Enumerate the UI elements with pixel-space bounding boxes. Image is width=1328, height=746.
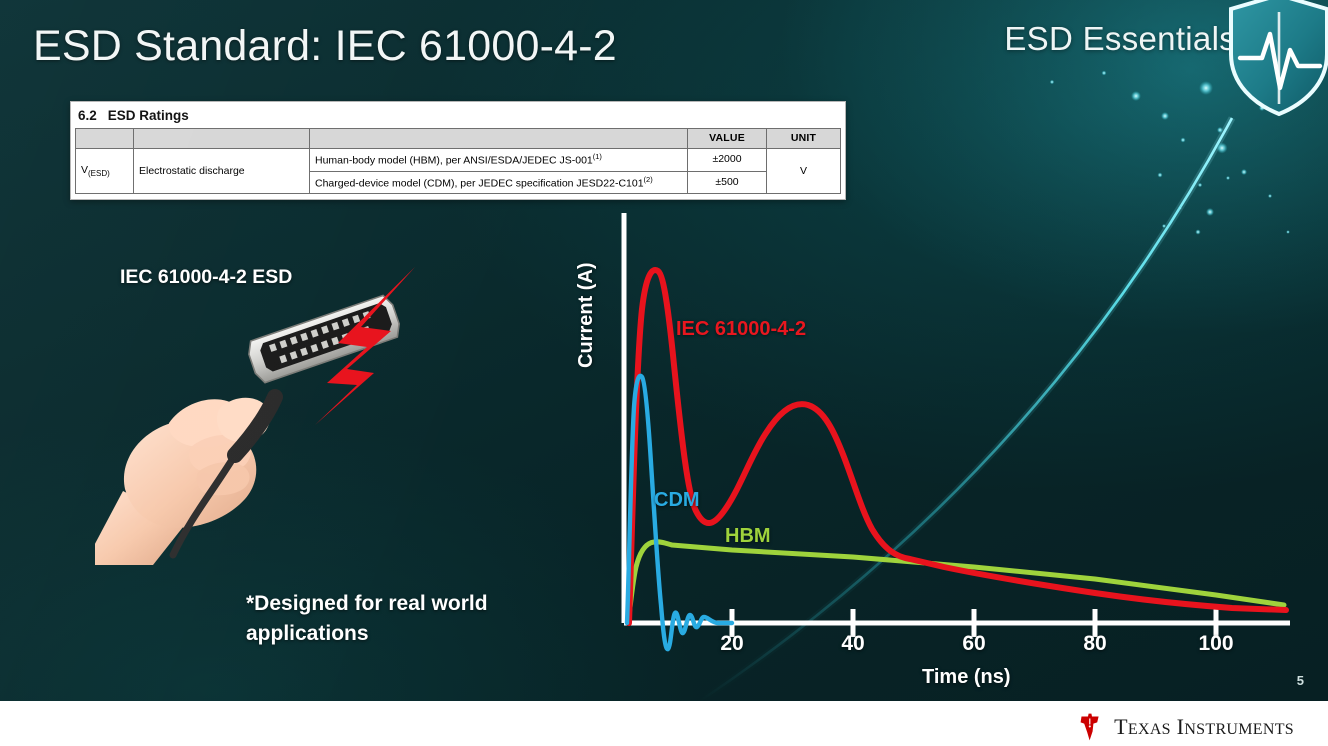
chart-xtick-40: 40 bbox=[841, 632, 864, 656]
symbol-text: V bbox=[81, 164, 88, 176]
esd-waveform-chart bbox=[572, 205, 1312, 695]
footnote-1: (1) bbox=[593, 152, 602, 161]
page-title: ESD Standard: IEC 61000-4-2 bbox=[33, 22, 617, 71]
chart-annotation-iec: IEC 61000-4-2 bbox=[676, 318, 806, 341]
cell-value-hbm: ±2000 bbox=[688, 149, 767, 172]
description-cdm-text: Charged-device model (CDM), per JEDEC sp… bbox=[315, 177, 644, 189]
header-blank-description bbox=[310, 129, 688, 149]
hand-holding-cable-icon bbox=[95, 255, 435, 565]
header-blank-symbol bbox=[76, 129, 134, 149]
chart-annotation-cdm: CDM bbox=[654, 489, 700, 512]
cell-description-hbm: Human-body model (HBM), per ANSI/ESDA/JE… bbox=[310, 149, 688, 172]
slide-number: 5 bbox=[1297, 673, 1304, 688]
cell-description-cdm: Charged-device model (CDM), per JEDEC sp… bbox=[310, 171, 688, 194]
esd-ratings-heading: 6.2ESD Ratings bbox=[75, 106, 841, 128]
esd-ratings-table-card: 6.2ESD Ratings VALUE UNIT V(ESD) Electro… bbox=[70, 101, 846, 200]
chart-series-hbm bbox=[628, 542, 1284, 623]
header-unit: UNIT bbox=[767, 129, 841, 149]
description-hbm-text: Human-body model (HBM), per ANSI/ESDA/JE… bbox=[315, 155, 593, 167]
table-header-row: VALUE UNIT bbox=[76, 129, 841, 149]
design-note: *Designed for real world applications bbox=[246, 589, 576, 650]
slide-root: ESD Standard: IEC 61000-4-2 ESD Essentia… bbox=[0, 0, 1328, 746]
shield-pulse-icon bbox=[1224, 0, 1328, 120]
section-title: ESD Ratings bbox=[108, 108, 189, 123]
chart-xtick-20: 20 bbox=[720, 632, 743, 656]
texas-instruments-logo: TEXAS INSTRUMENTS bbox=[1075, 712, 1294, 742]
chart-xtick-100: 100 bbox=[1198, 632, 1233, 656]
header-value: VALUE bbox=[688, 129, 767, 149]
chart-xtick-80: 80 bbox=[1083, 632, 1106, 656]
footnote-2: (2) bbox=[644, 175, 653, 184]
brand-label: ESD Essentials bbox=[1004, 20, 1236, 58]
esd-ratings-table: VALUE UNIT V(ESD) Electrostatic discharg… bbox=[75, 128, 841, 194]
slide-canvas: ESD Standard: IEC 61000-4-2 ESD Essentia… bbox=[0, 0, 1328, 701]
cell-parameter: Electrostatic discharge bbox=[134, 149, 310, 194]
header-blank-parameter bbox=[134, 129, 310, 149]
symbol-subscript: (ESD) bbox=[88, 169, 110, 178]
ti-wordmark: TEXAS INSTRUMENTS bbox=[1114, 714, 1294, 740]
table-row: V(ESD) Electrostatic discharge Human-bod… bbox=[76, 149, 841, 172]
chart-xtick-60: 60 bbox=[962, 632, 985, 656]
ti-texas-mark-icon bbox=[1075, 712, 1105, 742]
cell-unit: V bbox=[767, 149, 841, 194]
cell-value-cdm: ±500 bbox=[688, 171, 767, 194]
section-number: 6.2 bbox=[78, 108, 97, 123]
cell-symbol: V(ESD) bbox=[76, 149, 134, 194]
chart-annotation-hbm: HBM bbox=[725, 525, 771, 548]
